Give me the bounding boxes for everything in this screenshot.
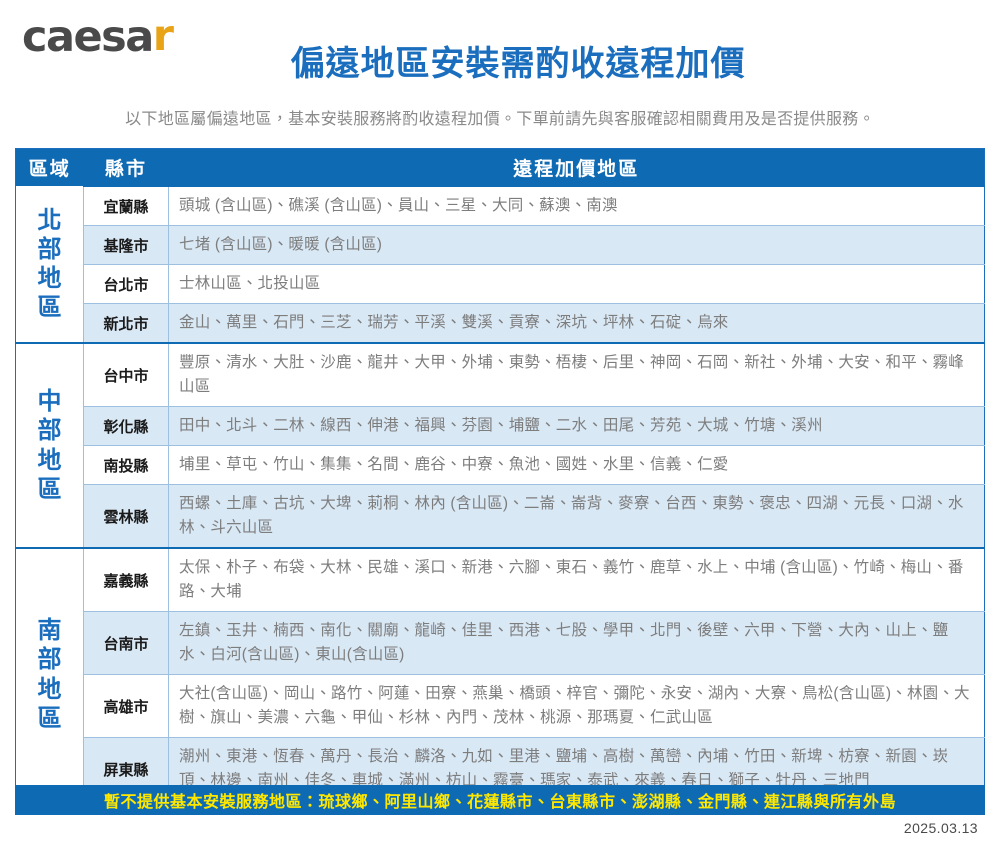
table-row: 高雄市 大社(含山區)、岡山、路竹、阿蓮、田寮、燕巢、橋頭、梓官、彌陀、永安、湖… [16,675,985,738]
region-label: 北部地區 [38,206,62,323]
areas-cell: 左鎮、玉井、楠西、南化、關廟、龍崎、佳里、西港、七股、學甲、北門、後壁、六甲、下… [169,612,985,675]
areas-cell: 埔里、草屯、竹山、集集、名間、鹿谷、中寮、魚池、國姓、水里、信義、仁愛 [169,446,985,485]
table-row: 中部地區 台中市 豐原、清水、大肚、沙鹿、龍井、大甲、外埔、東勢、梧棲、后里、神… [16,343,985,407]
page-header: caesar 偏遠地區安裝需酌收遠程加價 以下地區屬偏遠地區，基本安裝服務將酌收… [0,0,1000,100]
remote-area-table: 區域 縣市 遠程加價地區 北部地區 宜蘭縣 頭城 (含山區)、礁溪 (含山區)、… [15,148,985,801]
county-cell: 南投縣 [84,446,169,485]
areas-cell: 頭城 (含山區)、礁溪 (含山區)、員山、三星、大同、蘇澳、南澳 [169,186,985,226]
table-row: 北部地區 宜蘭縣 頭城 (含山區)、礁溪 (含山區)、員山、三星、大同、蘇澳、南… [16,186,985,226]
county-cell: 基隆市 [84,226,169,265]
areas-cell: 豐原、清水、大肚、沙鹿、龍井、大甲、外埔、東勢、梧棲、后里、神岡、石岡、新社、外… [169,343,985,407]
areas-cell: 田中、北斗、二林、線西、伸港、福興、芬園、埔鹽、二水、田尾、芳苑、大城、竹塘、溪… [169,407,985,446]
table-row: 南投縣 埔里、草屯、竹山、集集、名間、鹿谷、中寮、魚池、國姓、水里、信義、仁愛 [16,446,985,485]
county-cell: 宜蘭縣 [84,186,169,226]
unsupported-areas-note: 暫不提供基本安裝服務地區：琉球鄉、阿里山鄉、花蓮縣市、台東縣市、澎湖縣、金門縣、… [15,785,985,815]
region-cell-south: 南部地區 [16,548,84,801]
region-cell-central: 中部地區 [16,343,84,548]
region-label: 中部地區 [38,387,62,504]
table-row: 台南市 左鎮、玉井、楠西、南化、關廟、龍崎、佳里、西港、七股、學甲、北門、後壁、… [16,612,985,675]
table-row: 彰化縣 田中、北斗、二林、線西、伸港、福興、芬園、埔鹽、二水、田尾、芳苑、大城、… [16,407,985,446]
remote-area-table-wrap: 區域 縣市 遠程加價地區 北部地區 宜蘭縣 頭城 (含山區)、礁溪 (含山區)、… [15,148,985,801]
county-cell: 新北市 [84,304,169,344]
table-header-row: 區域 縣市 遠程加價地區 [16,149,985,187]
county-cell: 彰化縣 [84,407,169,446]
region-cell-north: 北部地區 [16,186,84,343]
areas-cell: 金山、萬里、石門、三芝、瑞芳、平溪、雙溪、貢寮、深坑、坪林、石碇、烏來 [169,304,985,344]
page-subtitle: 以下地區屬偏遠地區，基本安裝服務將酌收遠程加價。下單前請先與客服確認相關費用及是… [0,105,1000,129]
date-stamp: 2025.03.13 [904,820,978,836]
column-header-region: 區域 [16,149,84,187]
page-title: 偏遠地區安裝需酌收遠程加價 [0,46,1000,83]
county-cell: 台南市 [84,612,169,675]
column-header-county: 縣市 [84,149,169,187]
county-cell: 台中市 [84,343,169,407]
county-cell: 高雄市 [84,675,169,738]
areas-cell: 西螺、土庫、古坑、大埤、莿桐、林內 (含山區)、二崙、崙背、麥寮、台西、東勢、褒… [169,485,985,549]
table-row: 新北市 金山、萬里、石門、三芝、瑞芳、平溪、雙溪、貢寮、深坑、坪林、石碇、烏來 [16,304,985,344]
areas-cell: 太保、朴子、布袋、大林、民雄、溪口、新港、六腳、東石、義竹、鹿草、水上、中埔 (… [169,548,985,612]
areas-cell: 大社(含山區)、岡山、路竹、阿蓮、田寮、燕巢、橋頭、梓官、彌陀、永安、湖內、大寮… [169,675,985,738]
table-row: 台北市 士林山區、北投山區 [16,265,985,304]
table-head: 區域 縣市 遠程加價地區 [16,149,985,187]
table-body: 北部地區 宜蘭縣 頭城 (含山區)、礁溪 (含山區)、員山、三星、大同、蘇澳、南… [16,186,985,801]
column-header-areas: 遠程加價地區 [169,149,985,187]
table-row: 雲林縣 西螺、土庫、古坑、大埤、莿桐、林內 (含山區)、二崙、崙背、麥寮、台西、… [16,485,985,549]
table-row: 南部地區 嘉義縣 太保、朴子、布袋、大林、民雄、溪口、新港、六腳、東石、義竹、鹿… [16,548,985,612]
region-label: 南部地區 [38,616,62,733]
county-cell: 雲林縣 [84,485,169,549]
table-row: 基隆市 七堵 (含山區)、暖暖 (含山區) [16,226,985,265]
areas-cell: 七堵 (含山區)、暖暖 (含山區) [169,226,985,265]
county-cell: 台北市 [84,265,169,304]
areas-cell: 士林山區、北投山區 [169,265,985,304]
county-cell: 嘉義縣 [84,548,169,612]
